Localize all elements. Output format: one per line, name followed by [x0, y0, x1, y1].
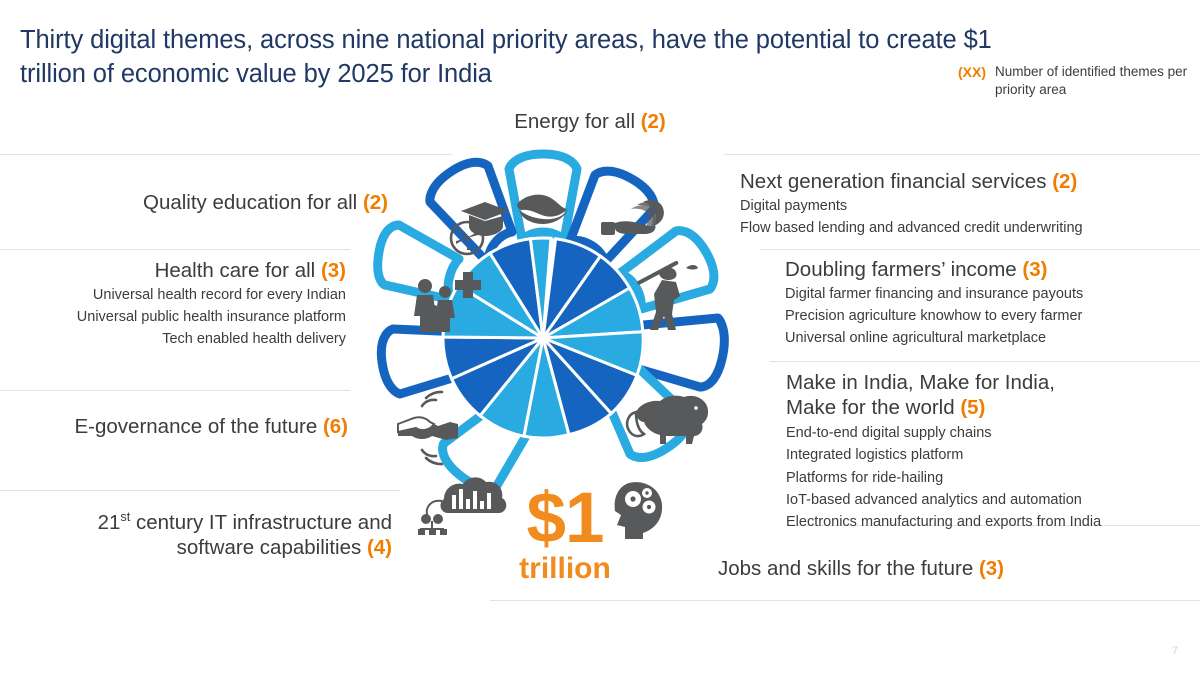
area-item: IoT-based advanced analytics and automat… — [786, 489, 1200, 511]
lion-icon — [627, 396, 708, 444]
page-number: 7 — [1172, 645, 1178, 657]
area-label-energy: Energy for all (2) — [470, 110, 710, 135]
area-item: End-to-end digital supply chains — [786, 422, 1200, 444]
area-item: Universal health record for every Indian — [0, 284, 346, 306]
area-label-financial-services: Next generation financial services (2) D… — [740, 170, 1200, 239]
area-label-it-infrastructure: 21st century IT infrastructure and softw… — [0, 511, 392, 560]
it-infra-ordinal: st — [120, 509, 130, 524]
area-title-jobs-skills: Jobs and skills for the future (3) — [718, 557, 1200, 582]
hand-cash-icon — [601, 200, 664, 235]
area-item: Digital farmer financing and insurance p… — [785, 283, 1200, 305]
page-title: Thirty digital themes, across nine natio… — [20, 24, 1010, 91]
it-infra-prefix: 21 — [98, 511, 121, 534]
separator-left-2 — [0, 249, 350, 250]
area-title-quality-education: Quality education for all (2) — [0, 191, 388, 216]
legend-description: Number of identified themes per priority… — [995, 63, 1198, 99]
area-item: Platforms for ride-hailing — [786, 467, 1200, 489]
hand-leaf-icon — [517, 195, 568, 224]
legend-marker: (XX) — [958, 63, 986, 80]
area-label-e-governance: E-governance of the future (6) — [0, 415, 348, 440]
separator-bottom — [490, 600, 1200, 601]
area-item: Integrated logistics platform — [786, 444, 1200, 466]
center-amount: $1 — [470, 486, 660, 551]
separator-right-1 — [724, 154, 1200, 155]
center-unit: trillion — [470, 555, 660, 583]
legend: (XX) Number of identified themes per pri… — [958, 63, 1198, 99]
area-item: Universal online agricultural marketplac… — [785, 327, 1200, 349]
area-title-energy: Energy for all (2) — [470, 110, 710, 135]
it-infra-rest: century IT infrastructure and — [130, 511, 392, 534]
separator-right-2 — [760, 249, 1200, 250]
area-label-farmers-income: Doubling farmers’ income (3) Digital far… — [785, 258, 1200, 349]
area-title-health-care: Health care for all (3) — [0, 259, 346, 284]
handshake-signal-icon — [398, 392, 458, 464]
area-item: Digital payments — [740, 195, 1200, 217]
area-label-health-care: Health care for all (3) Universal health… — [0, 259, 346, 350]
area-title-make-in-india: Make in India, Make for India, Make for … — [786, 371, 1200, 420]
area-item: Electronics manufacturing and exports fr… — [786, 511, 1200, 533]
slide-canvas: Thirty digital themes, across nine natio… — [0, 0, 1200, 675]
area-title-it-infrastructure: 21st century IT infrastructure and softw… — [0, 511, 392, 560]
area-title-e-governance: E-governance of the future (6) — [0, 415, 348, 440]
area-label-jobs-skills: Jobs and skills for the future (3) — [718, 557, 1200, 582]
area-title-farmers-income: Doubling farmers’ income (3) — [785, 258, 1200, 283]
inner-pie — [443, 238, 643, 438]
area-item: Precision agriculture knowhow to every f… — [785, 305, 1200, 327]
area-item: Universal public health insurance platfo… — [0, 306, 346, 328]
area-item: Flow based lending and advanced credit u… — [740, 217, 1200, 239]
area-item: Tech enabled health delivery — [0, 328, 346, 350]
center-value: $1 trillion — [470, 486, 660, 583]
area-label-quality-education: Quality education for all (2) — [0, 191, 388, 216]
separator-left-3 — [0, 390, 350, 391]
area-title-financial-services: Next generation financial services (2) — [740, 170, 1200, 195]
area-label-make-in-india: Make in India, Make for India, Make for … — [786, 371, 1200, 533]
separator-right-3 — [770, 361, 1200, 362]
